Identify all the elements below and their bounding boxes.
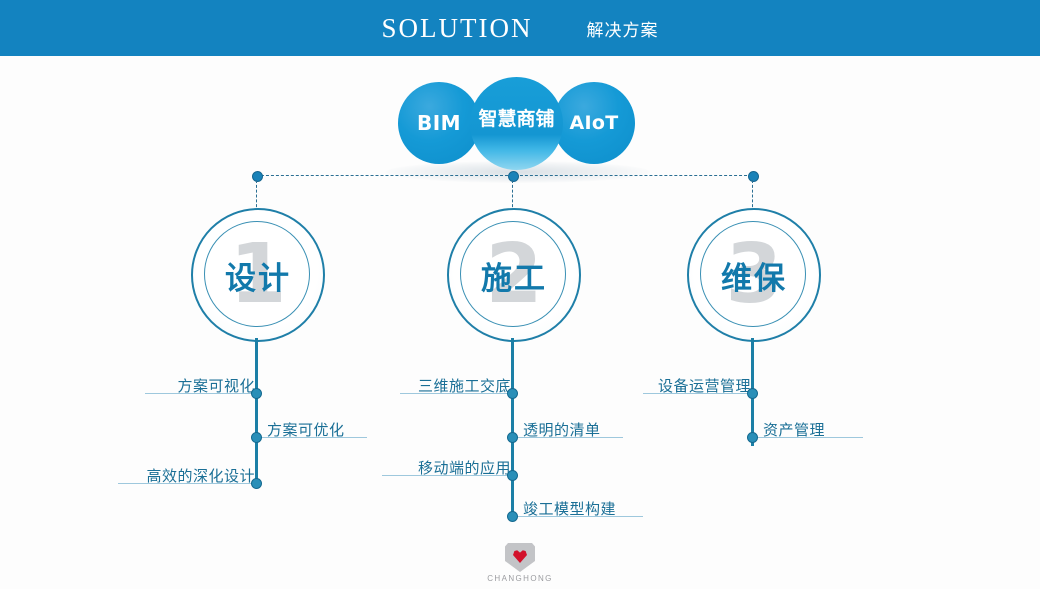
stage-circle-construction[interactable]: 2 施工 [447, 208, 581, 342]
branch-node [251, 388, 262, 399]
stage-label-maintenance: 维保 [689, 210, 819, 340]
branch-label[interactable]: 方案可视化 [135, 375, 255, 396]
page-subtitle: 解决方案 [587, 16, 659, 41]
header-title-group: SOLUTION 解决方案 [0, 0, 1040, 56]
branch-label[interactable]: 三维施工交底 [391, 375, 511, 396]
branch-label[interactable]: 资产管理 [763, 419, 883, 440]
rail-node-2 [508, 171, 519, 182]
branch-label[interactable]: 方案可优化 [267, 419, 397, 440]
stage-label-construction: 施工 [449, 210, 579, 340]
stage-stem-design [255, 338, 258, 488]
branch-node [747, 432, 758, 443]
stage-circle-maintenance[interactable]: 3 维保 [687, 208, 821, 342]
branch-node [507, 388, 518, 399]
bubble-bim[interactable]: BIM [398, 82, 480, 164]
page-title: SOLUTION [382, 13, 533, 44]
stage-stem-construction [511, 338, 514, 520]
branch-node [251, 478, 262, 489]
stage-circle-design[interactable]: 1 设计 [191, 208, 325, 342]
branch-label[interactable]: 高效的深化设计 [115, 465, 255, 486]
bubble-smart-shop-label: 智慧商铺 [478, 104, 554, 131]
branch-node [507, 511, 518, 522]
connector-rail-horizontal [256, 175, 752, 176]
branch-label[interactable]: 透明的清单 [523, 419, 653, 440]
logo-wordmark: CHANGHONG [477, 574, 563, 583]
branch-node [747, 388, 758, 399]
bubble-smart-shop[interactable]: 智慧商铺 [470, 77, 563, 170]
footer-logo: CHANGHONG [477, 543, 563, 587]
bubble-bim-label: BIM [417, 111, 461, 135]
rail-node-3 [748, 171, 759, 182]
branch-node [507, 432, 518, 443]
branch-node [251, 432, 262, 443]
branch-node [507, 470, 518, 481]
bubble-aiot-label: AIoT [570, 112, 619, 134]
solution-slide: SOLUTION 解决方案 BIM AIoT 智慧商铺 1 设计 2 施工 3 [0, 0, 1040, 589]
branch-label[interactable]: 设备运营管理 [641, 375, 751, 396]
changhong-shield-icon [505, 543, 535, 572]
stage-label-design: 设计 [193, 210, 323, 340]
branch-label[interactable]: 竣工模型构建 [523, 498, 663, 519]
bubble-cluster: BIM AIoT 智慧商铺 [378, 77, 658, 177]
rail-node-1 [252, 171, 263, 182]
bubble-aiot[interactable]: AIoT [553, 82, 635, 164]
branch-label[interactable]: 移动端的应用 [381, 457, 511, 478]
